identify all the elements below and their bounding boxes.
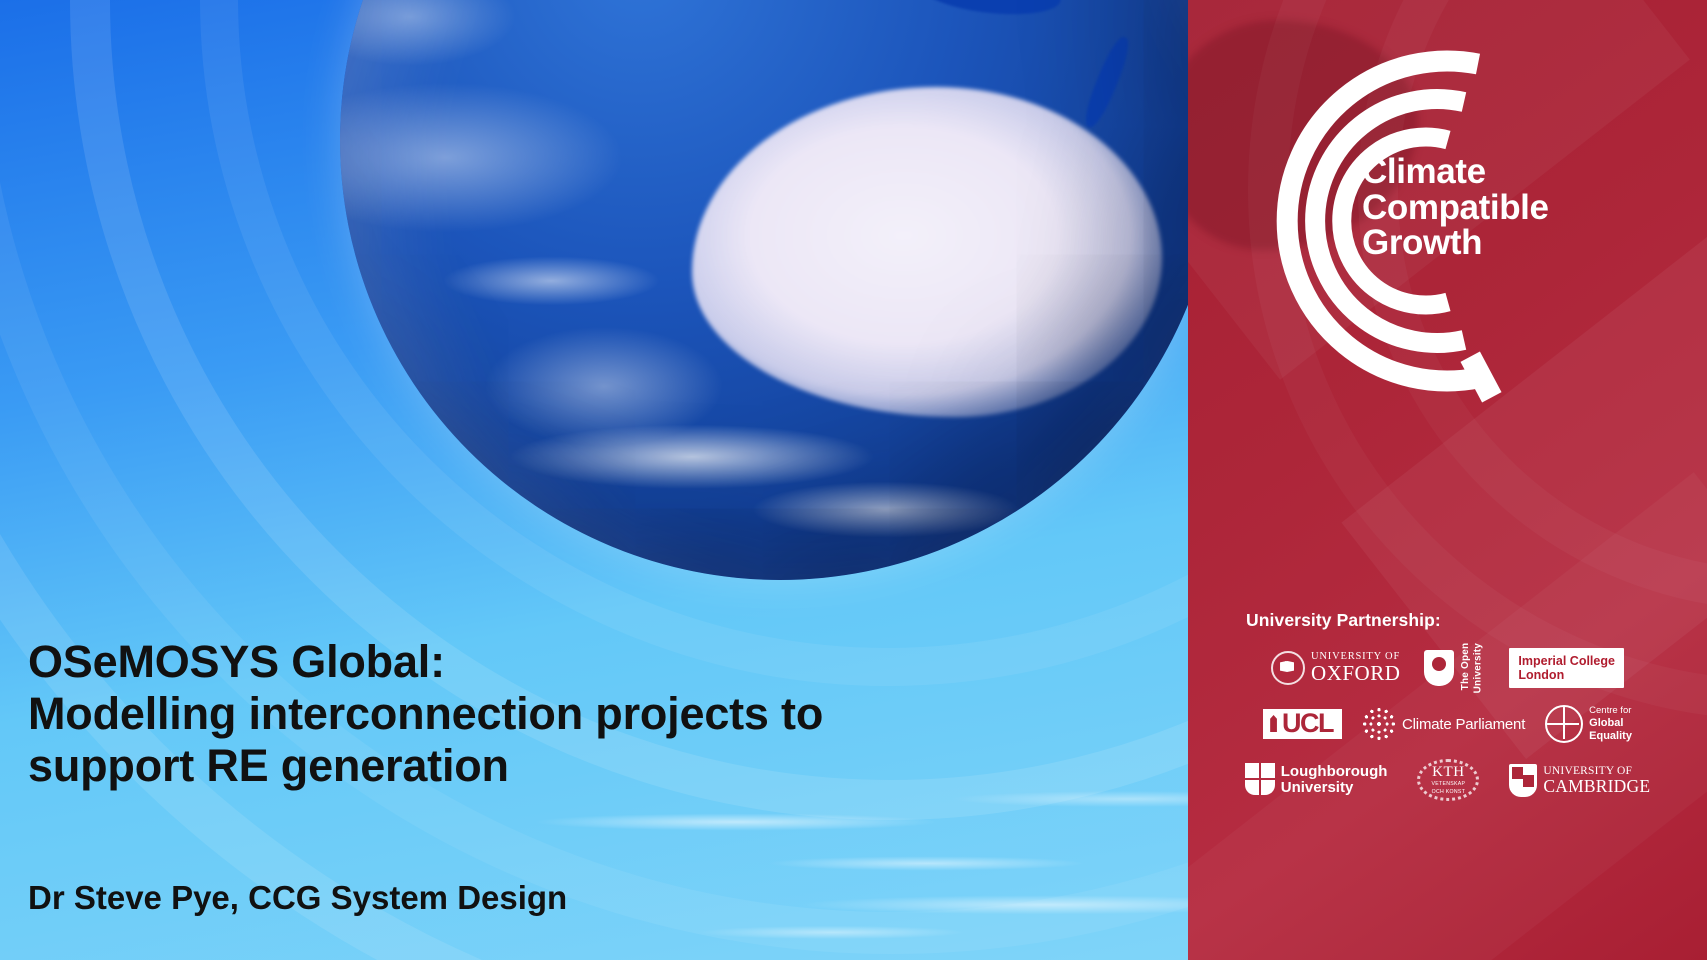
ccg-logo-wordmark: Climate Compatible Growth bbox=[1362, 154, 1552, 261]
partner-logo-row: UCL Climate Parliament Centre for Global… bbox=[1188, 702, 1707, 746]
kth-label-sub-1: VETENSKAP bbox=[1431, 782, 1465, 787]
cambridge-label-main: CAMBRIDGE bbox=[1543, 777, 1650, 795]
partner-logo-cambridge: UNIVERSITY OF CAMBRIDGE bbox=[1509, 764, 1650, 797]
partner-logo-global-equality: Centre for Global Equality bbox=[1545, 705, 1632, 743]
partner-logo-loughborough: Loughborough University bbox=[1245, 763, 1388, 797]
title-line-2: Modelling interconnection projects to bbox=[28, 688, 823, 739]
partner-logo-oxford: UNIVERSITY OF OXFORD bbox=[1271, 651, 1400, 685]
ou-label-line-2: University bbox=[1473, 643, 1486, 693]
ucl-portico-icon bbox=[1267, 715, 1280, 732]
cge-label-line-1: Centre for bbox=[1589, 705, 1632, 716]
cge-label-line-3: Equality bbox=[1589, 730, 1632, 743]
ou-label-line-1: The Open bbox=[1460, 643, 1473, 693]
lboro-label-line-2: University bbox=[1281, 780, 1388, 796]
ccg-logo: Climate Compatible Growth bbox=[1188, 36, 1558, 406]
title-block: OSeMOSYS Global: Modelling interconnecti… bbox=[28, 636, 1108, 793]
climate-parliament-dots-icon bbox=[1362, 707, 1396, 741]
imperial-label-line-2: London bbox=[1518, 668, 1615, 682]
partner-logo-climate-parliament: Climate Parliament bbox=[1362, 707, 1525, 741]
university-partnership-section: University Partnership: UNIVERSITY OF OX… bbox=[1188, 610, 1707, 814]
cge-label-line-2: Global bbox=[1589, 717, 1632, 730]
global-equality-globe-icon bbox=[1545, 705, 1583, 743]
imperial-label-line-1: Imperial College bbox=[1518, 654, 1615, 668]
slide-background-right: Climate Compatible Growth University Par… bbox=[1188, 0, 1707, 960]
slide-background-left bbox=[0, 0, 1188, 960]
ccg-word-line-1: Climate bbox=[1362, 154, 1552, 190]
climate-parliament-label: Climate Parliament bbox=[1402, 716, 1525, 733]
title-line-3: support RE generation bbox=[28, 740, 509, 791]
partner-logo-open-university: The Open University bbox=[1424, 643, 1485, 693]
ccg-word-line-2: Compatible bbox=[1362, 190, 1552, 226]
cambridge-shield-icon bbox=[1509, 764, 1537, 797]
loughborough-crest-icon bbox=[1245, 763, 1275, 797]
open-university-shield-icon bbox=[1424, 650, 1454, 686]
earth-globe-image bbox=[340, 0, 1188, 580]
lboro-label-line-1: Loughborough bbox=[1281, 764, 1388, 780]
kth-label-sub-2: OCH KONST bbox=[1431, 790, 1465, 795]
page-title: OSeMOSYS Global: Modelling interconnecti… bbox=[28, 636, 1108, 793]
ucl-label: UCL bbox=[1282, 710, 1333, 737]
partner-logo-imperial: Imperial College London bbox=[1509, 648, 1624, 689]
presentation-slide: OSeMOSYS Global: Modelling interconnecti… bbox=[0, 0, 1707, 960]
partner-logo-ucl: UCL bbox=[1263, 709, 1342, 739]
partnership-heading: University Partnership: bbox=[1246, 610, 1707, 631]
ccg-word-line-3: Growth bbox=[1362, 225, 1552, 261]
oxford-crest-icon bbox=[1271, 651, 1305, 685]
kth-label-main: KTH bbox=[1431, 765, 1465, 780]
title-line-1: OSeMOSYS Global: bbox=[28, 636, 445, 687]
partner-logo-row: UNIVERSITY OF OXFORD The Open University… bbox=[1188, 646, 1707, 690]
presenter-subtitle: Dr Steve Pye, CCG System Design bbox=[28, 879, 567, 917]
oxford-label-main: OXFORD bbox=[1311, 663, 1400, 684]
partner-logo-kth: KTH VETENSKAP OCH KONST bbox=[1411, 758, 1485, 802]
partner-logo-row: Loughborough University KTH VETENSKAP OC… bbox=[1188, 758, 1707, 802]
